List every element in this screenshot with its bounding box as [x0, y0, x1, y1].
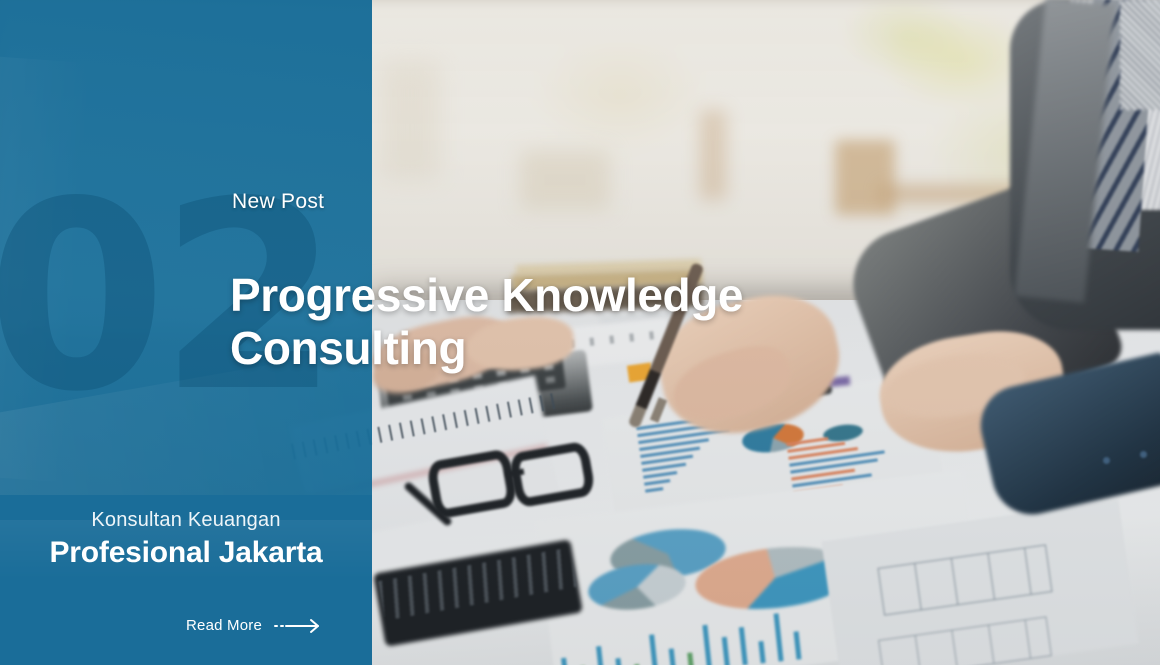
read-more-button[interactable]: Read More: [186, 617, 324, 634]
sleeve-button-1: [1103, 457, 1110, 464]
wall-panel-blur: [380, 60, 440, 180]
read-more-label: Read More: [186, 617, 262, 634]
page-title: Progressive Knowledge Consulting: [230, 269, 930, 376]
wall-panel-blur-2: [520, 150, 610, 210]
arrow-right-icon: [274, 618, 324, 634]
subtitle-label: Konsultan Keuangan: [0, 509, 372, 532]
eyebrow-label: New Post: [232, 190, 324, 214]
banner-card: 02 New Post Progressive Knowledge Consul…: [0, 0, 1160, 665]
secondary-title: Profesional Jakarta: [0, 536, 372, 570]
shirt-collar-icon: [1120, 0, 1160, 110]
sleeve-button-2: [1140, 451, 1147, 458]
wood-box-icon: [835, 140, 895, 215]
wood-post-blur: [700, 110, 726, 200]
